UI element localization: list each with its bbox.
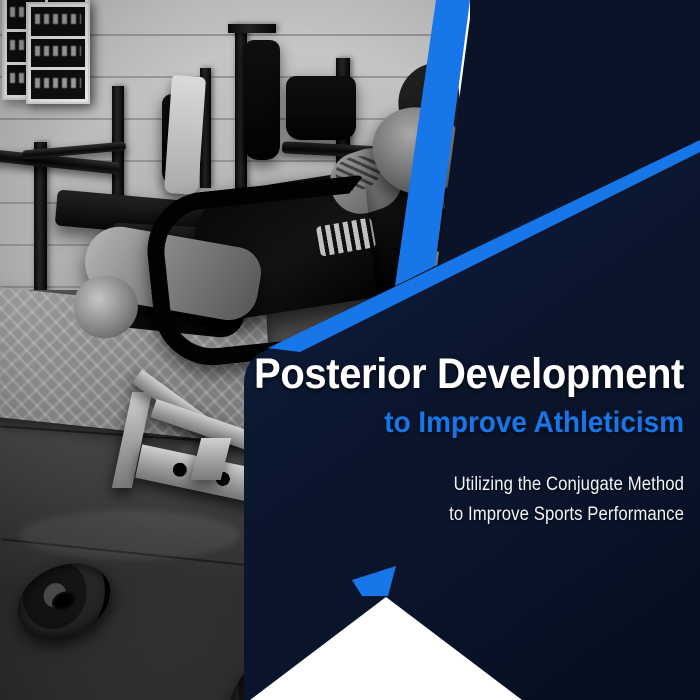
poster-tagline-line-1: Utilizing the Conjugate Method bbox=[82, 470, 684, 500]
poster-canvas: Posterior Development to Improve Athleti… bbox=[0, 0, 700, 700]
poster-tagline: Utilizing the Conjugate Method to Improv… bbox=[82, 470, 684, 530]
poster-text-block: Posterior Development to Improve Athleti… bbox=[0, 352, 700, 530]
poster-tagline-line-2: to Improve Sports Performance bbox=[82, 500, 684, 530]
poster-title-line-2: to Improve Athleticism bbox=[48, 406, 684, 439]
poster-title-line-1: Posterior Development bbox=[48, 352, 684, 397]
